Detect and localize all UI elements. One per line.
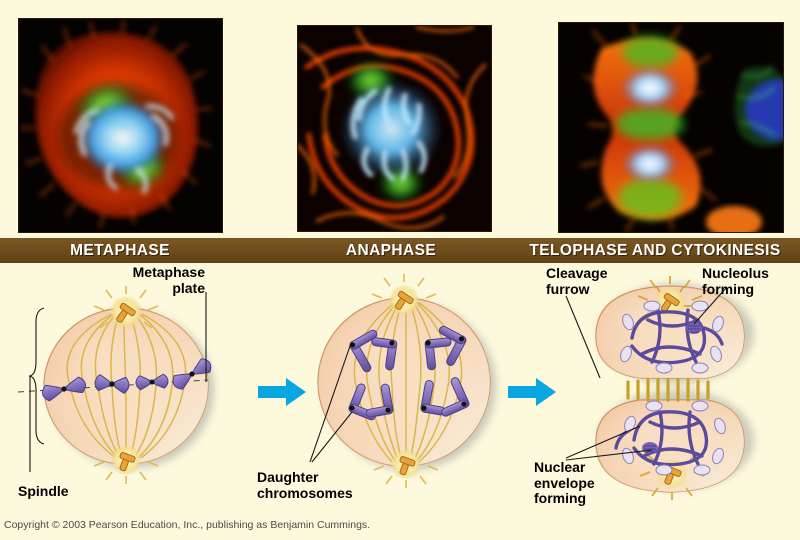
- label-nucleolus-forming: Nucleolus forming: [702, 266, 769, 297]
- metaphase-micrograph: [18, 18, 223, 233]
- arrow-metaphase-to-anaphase: [258, 378, 306, 406]
- banner-label-telophase: TELOPHASE AND CYTOKINESIS: [512, 239, 798, 263]
- label-daughter-chromosomes: Daughter chromosomes: [257, 470, 353, 501]
- copyright-notice: Copyright © 2003 Pearson Education, Inc.…: [4, 519, 370, 531]
- label-spindle: Spindle: [18, 484, 69, 500]
- anaphase-micrograph: [297, 25, 492, 232]
- telophase-micrograph: [558, 22, 784, 233]
- label-metaphase-plate: Metaphase plate: [60, 265, 205, 296]
- arrow-anaphase-to-telophase: [508, 378, 556, 406]
- label-nuclear-envelope-forming: Nuclear envelope forming: [534, 460, 595, 507]
- metaphase-cell: [18, 286, 214, 484]
- nucleolus-bottom: [642, 442, 658, 454]
- anaphase-cell: [310, 274, 496, 488]
- banner-label-metaphase: METAPHASE: [60, 239, 180, 263]
- label-cleavage-furrow: Cleavage furrow: [546, 266, 607, 297]
- diagram-layer: [0, 262, 800, 520]
- banner-label-anaphase: ANAPHASE: [332, 239, 450, 263]
- figure-root: METAPHASE ANAPHASE TELOPHASE AND CYTOKIN…: [0, 0, 800, 540]
